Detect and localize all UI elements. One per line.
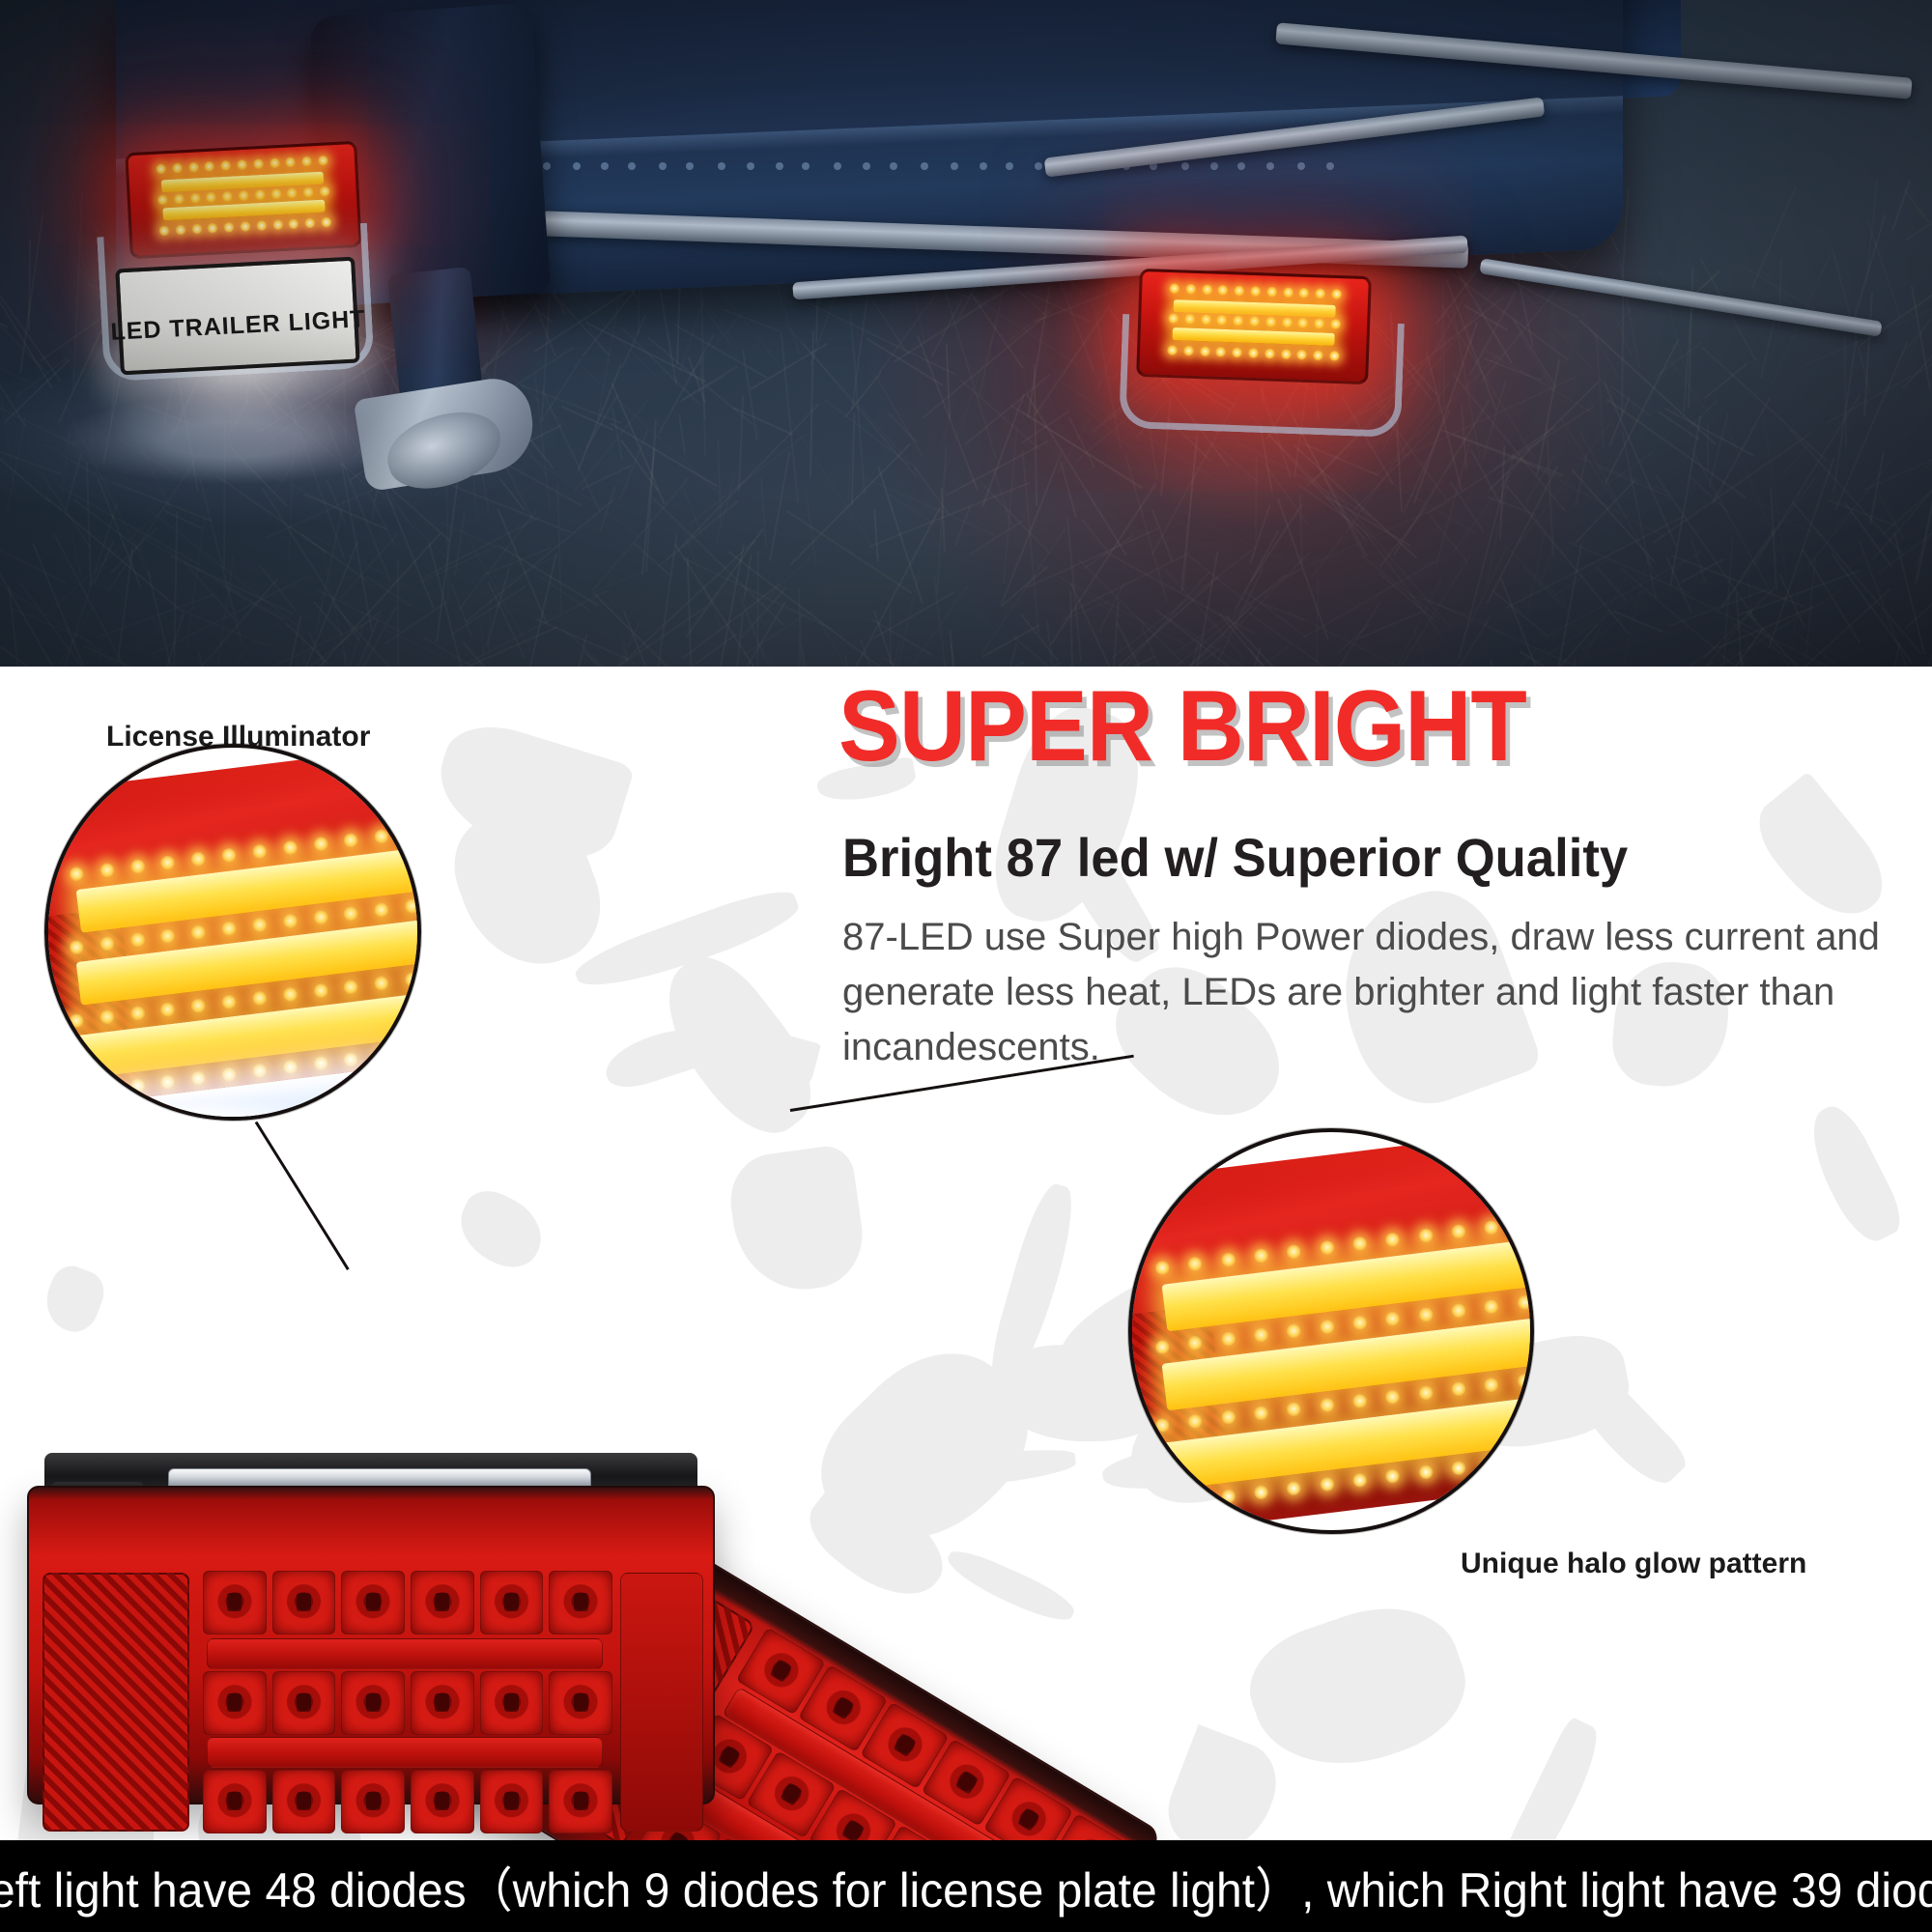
product-infographic: LED TRAILER LIGHT SUPER BRIGHT Bright 87… (0, 0, 1932, 1932)
led-cell (480, 1571, 544, 1634)
led-row (203, 1571, 612, 1634)
led-cell (480, 1770, 544, 1833)
led-row (203, 1770, 612, 1833)
led-cell (549, 1571, 612, 1634)
led-row (203, 1671, 612, 1735)
led-cell (272, 1671, 336, 1735)
photo-vignette (0, 0, 1932, 667)
lamp-side-lens (620, 1573, 703, 1832)
led-cell (549, 1671, 612, 1735)
lamp-lens-body (27, 1486, 715, 1804)
lens-smooth-bar (207, 1638, 603, 1669)
lit-lamp-closeup (1128, 1128, 1534, 1534)
callout-label-halo-glow: Unique halo glow pattern (1461, 1548, 1806, 1580)
banner-text: Left light have 48 diodes（which 9 diodes… (0, 1852, 1932, 1921)
callout-circle-license-illuminator (44, 744, 421, 1121)
led-cell (272, 1770, 336, 1833)
led-cell (203, 1671, 267, 1735)
bottom-banner: Left light have 48 diodes（which 9 diodes… (0, 1840, 1932, 1932)
page-title: SUPER BRIGHT (838, 676, 1526, 777)
callout-circle-halo-glow (1128, 1128, 1534, 1534)
led-cell (549, 1770, 612, 1833)
led-cell (272, 1571, 336, 1634)
led-array (203, 1571, 612, 1833)
led-cell (480, 1671, 544, 1735)
led-cell (341, 1671, 405, 1735)
led-cell (411, 1770, 474, 1833)
led-cell (203, 1571, 267, 1634)
led-trailer-light-front (27, 1430, 715, 1816)
lens-smooth-bar (207, 1737, 603, 1768)
led-cell (341, 1571, 405, 1634)
lit-lamp-closeup (44, 744, 421, 1121)
lamp-reflector-panel (43, 1573, 189, 1832)
subtitle: Bright 87 led w/ Superior Quality (842, 829, 1628, 886)
led-cell (411, 1571, 474, 1634)
content-panel: SUPER BRIGHT Bright 87 led w/ Superior Q… (0, 667, 1932, 1840)
led-cell (341, 1770, 405, 1833)
hero-night-photo: LED TRAILER LIGHT (0, 0, 1932, 667)
led-cell (203, 1770, 267, 1833)
led-cell (411, 1671, 474, 1735)
body-paragraph: 87-LED use Super high Power diodes, draw… (842, 910, 1924, 1074)
